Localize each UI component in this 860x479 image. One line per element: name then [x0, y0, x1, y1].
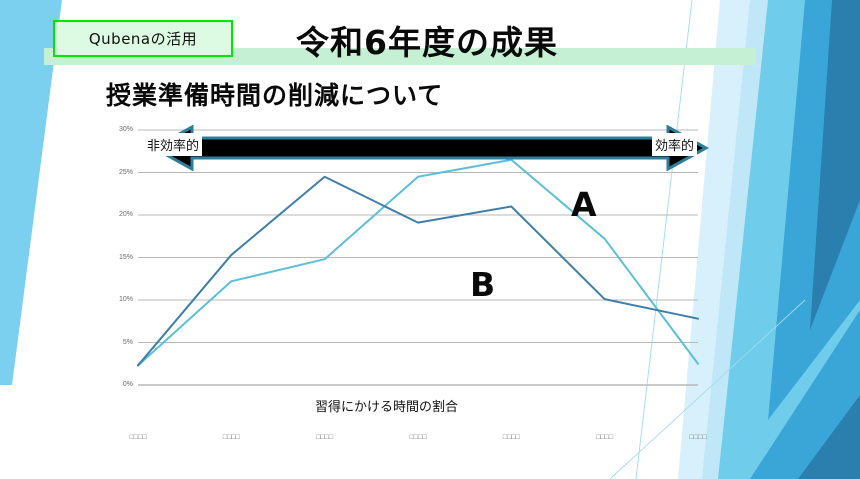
- series-label-a: A: [571, 185, 597, 224]
- slide-canvas: Qubenaの活用 令和6年度の成果 授業準備時間の削減について 0%5%10%…: [0, 0, 860, 479]
- y-axis-tick-label: 0%: [109, 381, 133, 388]
- y-axis-tick-label: 10%: [109, 296, 133, 303]
- qubena-tag-label: Qubenaの活用: [89, 28, 197, 49]
- qubena-tag: Qubenaの活用: [53, 20, 233, 57]
- chart-series: [138, 160, 698, 366]
- x-axis-tick-label: □□□□: [305, 434, 345, 441]
- arrow-label-left: 非効率的: [144, 133, 202, 156]
- x-axis-tick-label: □□□□: [398, 434, 438, 441]
- x-axis-tick-label: □□□□: [118, 434, 158, 441]
- x-axis-tick-label: □□□□: [211, 434, 251, 441]
- x-axis-tick-label: □□□□: [585, 434, 625, 441]
- y-axis-tick-label: 5%: [109, 339, 133, 346]
- series-label-b: B: [470, 265, 495, 304]
- page-title: 令和6年度の成果: [296, 16, 558, 64]
- y-axis-tick-label: 20%: [109, 211, 133, 218]
- x-axis-tick-label: □□□□: [678, 434, 718, 441]
- arrow-label-right: 効率的: [652, 133, 697, 156]
- series-line-a: [138, 160, 698, 366]
- page-subtitle: 授業準備時間の削減について: [106, 76, 443, 112]
- y-axis-tick-label: 25%: [109, 169, 133, 176]
- y-axis-tick-label: 15%: [109, 254, 133, 261]
- x-axis-title: 習得にかける時間の割合: [315, 396, 458, 415]
- efficiency-arrow: [150, 125, 710, 171]
- y-axis-tick-label: 30%: [109, 126, 133, 133]
- series-line-b: [138, 177, 698, 366]
- x-axis-tick-label: □□□□: [491, 434, 531, 441]
